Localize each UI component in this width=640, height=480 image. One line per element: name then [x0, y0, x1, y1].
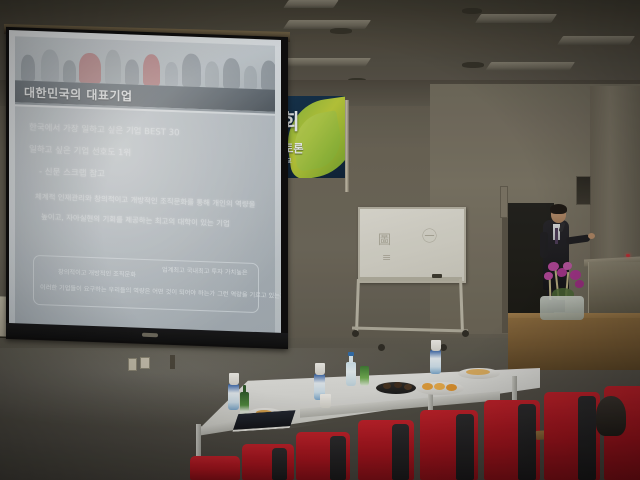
presenter-hand: [588, 233, 595, 239]
green-glass-bottle[interactable]: [360, 366, 369, 386]
conference-hall-photo: 수회 전략토론 한경공학교: [0, 0, 640, 480]
water-bottle[interactable]: [346, 362, 356, 386]
presenter-hair: [550, 204, 567, 214]
whiteboard-caster: [462, 330, 469, 337]
ceiling-vent: [462, 62, 484, 68]
whiteboard-tray: [358, 277, 462, 281]
screen-pull-handle[interactable]: [142, 333, 158, 338]
wall-outlet: [140, 357, 150, 369]
indicator-light: [626, 254, 630, 257]
stage-platform: [508, 318, 640, 370]
slide-footer-line: 이러한 기업들이 요구하는 우리들의 역량은 어떤 것이 되어야 하는가 그런 …: [40, 282, 281, 300]
whiteboard: 圖 ㊀ ≡: [358, 207, 466, 283]
slide-body-line: - 신문 스크랩 참고: [39, 165, 105, 179]
bottle-neck: [349, 355, 353, 363]
whiteboard-scribble: 圖: [378, 229, 391, 248]
bottle-cap: [348, 352, 354, 356]
slide-body: 한국에서 가장 일하고 싶은 기업 BEST 30 일하고 싶은 기업 선호도 …: [15, 106, 275, 336]
paper-cup[interactable]: [320, 394, 331, 408]
slide-body-line: 한국에서 가장 일하고 싶은 기업 BEST 30: [29, 121, 179, 139]
slide-footer-line: 업계최고 국내최고 투자 가치높은: [162, 265, 248, 277]
whiteboard-caster: [378, 344, 385, 351]
presenter-tie: [555, 228, 558, 244]
wall-sensor: [170, 355, 175, 369]
orange-slice: [434, 383, 445, 390]
slide-body-line: 일하고 싶은 기업 선호도 1위: [29, 143, 131, 159]
presenter-left-arm: [540, 232, 548, 258]
cookie: [404, 384, 412, 390]
wall-outlet: [128, 358, 137, 371]
whiteboard-caster: [352, 330, 359, 337]
bottle-neck: [243, 385, 246, 393]
wall-panel: [500, 186, 508, 218]
slide-body-line: 체계적 인재관리와 창의적이고 개방적인 조직문화를 통해 개인의 역량을: [35, 191, 255, 210]
ceiling-light-fixture: [279, 58, 371, 67]
banner-pole: [345, 100, 349, 192]
beverage-can[interactable]: [228, 384, 239, 410]
wall-speaker-box: [576, 176, 591, 205]
whiteboard-scribble: ㊀: [422, 225, 437, 246]
cookie: [383, 383, 391, 389]
ceiling-vent: [462, 8, 482, 14]
stacked-paper-cup[interactable]: [431, 340, 441, 351]
ceiling-light-fixture: [475, 14, 557, 23]
orange-slice: [446, 384, 457, 391]
slide-body-line: 높이고, 자아실현의 기회를 제공하는 최고의 대학이 있는 기업: [41, 211, 230, 229]
whiteboard-marker[interactable]: [432, 274, 442, 278]
snack-food: [466, 369, 490, 375]
stacked-paper-cup[interactable]: [229, 373, 239, 385]
ceiling-light-fixture: [283, 0, 338, 8]
slide-footer-box: 창의적이고 개방적인 조직문화 업계최고 국내최고 투자 가치높은 이러한 기업…: [33, 255, 259, 313]
projection-screen-surface: 대한민국의 대표기업 한국에서 가장 일하고 싶은 기업 BEST 30 일하고…: [9, 30, 281, 342]
ceiling-light-fixture: [557, 36, 635, 45]
slide-footer-line: 창의적이고 개방적인 조직문화: [58, 267, 136, 279]
flower-basket: [540, 296, 584, 320]
ceiling-light-fixture: [485, 62, 575, 71]
beverage-can[interactable]: [430, 350, 441, 374]
whiteboard-caster: [440, 344, 447, 351]
ceiling-light-fixture: [283, 20, 371, 29]
cookie: [394, 382, 402, 388]
slide-title: 대한민국의 대표기업: [15, 83, 133, 104]
ceiling-vent: [330, 28, 352, 34]
orange-slice: [422, 383, 433, 390]
presentation-slide: 대한민국의 대표기업 한국에서 가장 일하고 싶은 기업 BEST 30 일하고…: [9, 30, 281, 342]
stacked-paper-cup[interactable]: [315, 363, 325, 375]
